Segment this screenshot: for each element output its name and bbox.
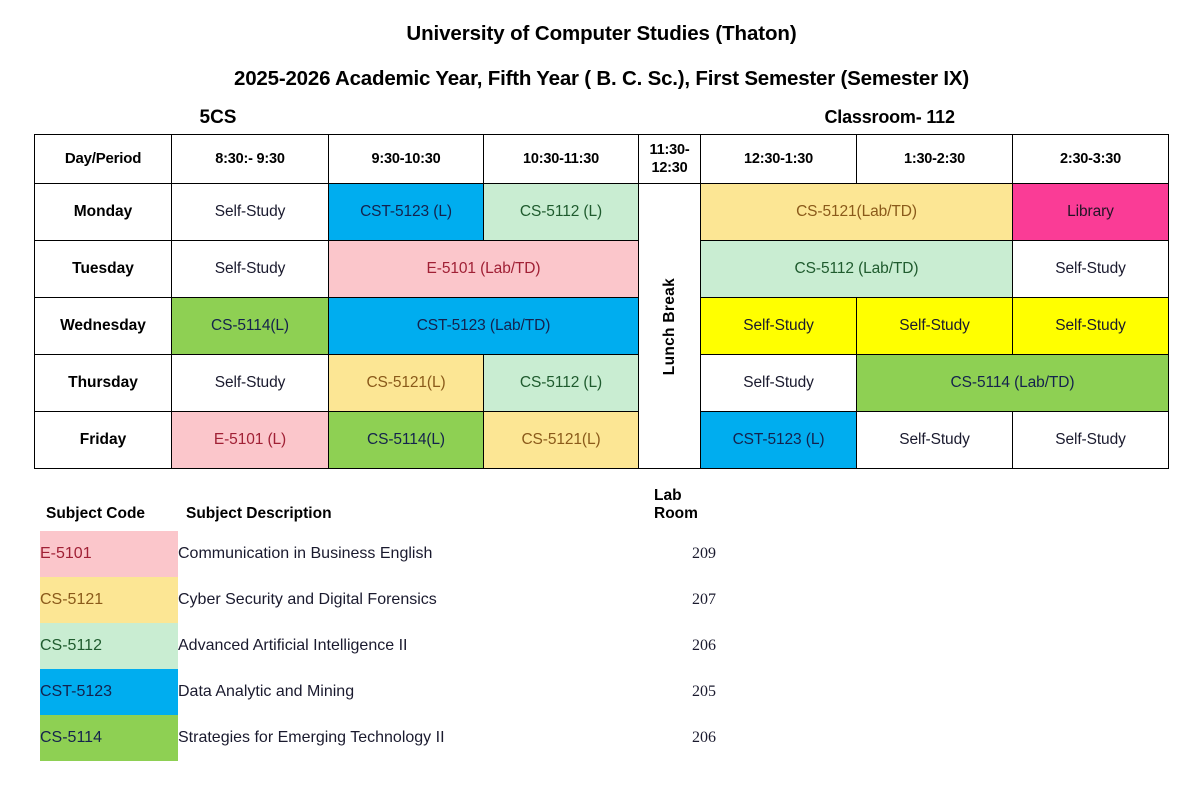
- legend-subject-description: Data Analytic and Mining: [178, 669, 654, 715]
- legend-row: CS-5114Strategies for Emerging Technolog…: [40, 715, 754, 761]
- page-title-block: University of Computer Studies (Thaton) …: [0, 0, 1203, 91]
- legend-header-row: Subject Code Subject Description LabRoom: [40, 487, 754, 531]
- legend-subject-code: CS-5121: [40, 577, 178, 623]
- timetable-row: MondaySelf-StudyCST-5123 (L)CS-5112 (L)L…: [35, 184, 1169, 241]
- day-label-tuesday: Tuesday: [35, 241, 172, 298]
- legend-header-code: Subject Code: [40, 487, 178, 531]
- day-label-friday: Friday: [35, 412, 172, 469]
- legend-row: CS-5121Cyber Security and Digital Forens…: [40, 577, 754, 623]
- timetable-cell: Self-Study: [172, 184, 329, 241]
- timetable-cell: Self-Study: [1013, 241, 1169, 298]
- column-header-period-3: 10:30-11:30: [484, 135, 639, 184]
- timetable-cell: CS-5114(L): [329, 412, 484, 469]
- timetable-cell: Self-Study: [172, 355, 329, 412]
- timetable-cell: CS-5112 (Lab/TD): [701, 241, 1013, 298]
- column-header-period-4: 12:30-1:30: [701, 135, 857, 184]
- timetable-cell: CST-5123 (Lab/TD): [329, 298, 639, 355]
- lunch-break-cell: Lunch Break: [639, 184, 701, 469]
- timetable-cell: Self-Study: [857, 412, 1013, 469]
- timetable-row: TuesdaySelf-StudyE-5101 (Lab/TD)CS-5112 …: [35, 241, 1169, 298]
- timetable-row: FridayE-5101 (L)CS-5114(L)CS-5121(L)CST-…: [35, 412, 1169, 469]
- legend-lab-room: 209: [654, 531, 754, 577]
- subject-legend: Subject Code Subject Description LabRoom…: [40, 487, 754, 761]
- academic-year-title: 2025-2026 Academic Year, Fifth Year ( B.…: [0, 67, 1203, 92]
- timetable-row: ThursdaySelf-StudyCS-5121(L)CS-5112 (L)S…: [35, 355, 1169, 412]
- timetable-cell: CS-5121(L): [484, 412, 639, 469]
- timetable-cell: CST-5123 (L): [329, 184, 484, 241]
- column-header-period-6: 2:30-3:30: [1013, 135, 1169, 184]
- caption-row: 5CS Classroom- 112: [35, 107, 1169, 131]
- timetable-cell: CST-5123 (L): [701, 412, 857, 469]
- legend-lab-room: 206: [654, 623, 754, 669]
- university-title: University of Computer Studies (Thaton): [0, 22, 1203, 47]
- column-header-period-1: 8:30:- 9:30: [172, 135, 329, 184]
- timetable-cell: CS-5114 (Lab/TD): [857, 355, 1169, 412]
- timetable-page: University of Computer Studies (Thaton) …: [0, 0, 1203, 800]
- legend-header-room: LabRoom: [654, 487, 754, 531]
- timetable-cell: Self-Study: [701, 298, 857, 355]
- legend-row: CST-5123Data Analytic and Mining205: [40, 669, 754, 715]
- timetable-cell: Self-Study: [1013, 412, 1169, 469]
- legend-subject-description: Advanced Artificial Intelligence II: [178, 623, 654, 669]
- timetable-cell: Self-Study: [172, 241, 329, 298]
- legend-lab-room: 206: [654, 715, 754, 761]
- legend-header-description: Subject Description: [178, 487, 654, 531]
- column-header-period-5: 1:30-2:30: [857, 135, 1013, 184]
- weekly-timetable: Day/Period 8:30:- 9:30 9:30-10:30 10:30-…: [34, 134, 1169, 469]
- timetable-cell: CS-5112 (L): [484, 355, 639, 412]
- legend-subject-description: Cyber Security and Digital Forensics: [178, 577, 654, 623]
- class-label: 5CS: [200, 107, 237, 129]
- timetable-cell: CS-5121(Lab/TD): [701, 184, 1013, 241]
- legend-subject-code: CS-5112: [40, 623, 178, 669]
- timetable-row: WednesdayCS-5114(L)CST-5123 (Lab/TD)Self…: [35, 298, 1169, 355]
- legend-lab-room: 205: [654, 669, 754, 715]
- timetable-cell: Self-Study: [1013, 298, 1169, 355]
- lunch-break-label: Lunch Break: [661, 278, 679, 375]
- timetable-cell: Library: [1013, 184, 1169, 241]
- column-header-period-2: 9:30-10:30: [329, 135, 484, 184]
- day-label-wednesday: Wednesday: [35, 298, 172, 355]
- timetable-header-row: Day/Period 8:30:- 9:30 9:30-10:30 10:30-…: [35, 135, 1169, 184]
- legend-lab-room: 207: [654, 577, 754, 623]
- legend-row: CS-5112Advanced Artificial Intelligence …: [40, 623, 754, 669]
- legend-subject-code: CST-5123: [40, 669, 178, 715]
- timetable-cell: Self-Study: [701, 355, 857, 412]
- timetable-cell: CS-5114(L): [172, 298, 329, 355]
- day-label-thursday: Thursday: [35, 355, 172, 412]
- legend-subject-description: Communication in Business English: [178, 531, 654, 577]
- classroom-label: Classroom- 112: [825, 107, 955, 128]
- timetable-cell: CS-5121(L): [329, 355, 484, 412]
- day-label-monday: Monday: [35, 184, 172, 241]
- legend-subject-code: CS-5114: [40, 715, 178, 761]
- timetable-cell: CS-5112 (L): [484, 184, 639, 241]
- legend-row: E-5101Communication in Business English2…: [40, 531, 754, 577]
- timetable-cell: E-5101 (L): [172, 412, 329, 469]
- legend-subject-description: Strategies for Emerging Technology II: [178, 715, 654, 761]
- column-header-lunch: 11:30-12:30: [639, 135, 701, 184]
- timetable-cell: E-5101 (Lab/TD): [329, 241, 639, 298]
- column-header-day: Day/Period: [35, 135, 172, 184]
- legend-subject-code: E-5101: [40, 531, 178, 577]
- timetable-cell: Self-Study: [857, 298, 1013, 355]
